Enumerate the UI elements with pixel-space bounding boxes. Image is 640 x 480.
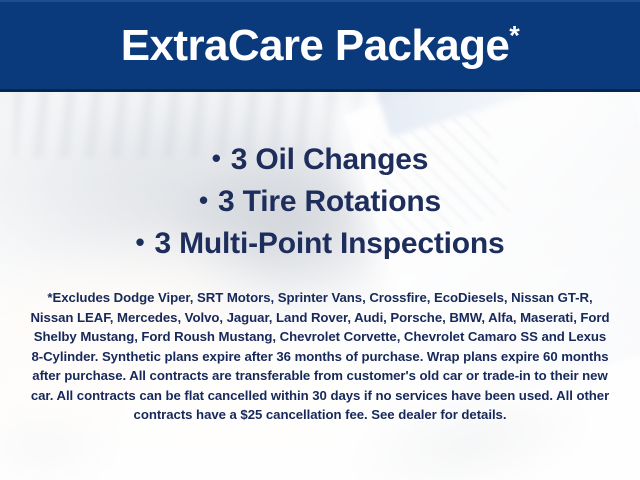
title-asterisk: *	[509, 20, 519, 50]
benefit-label: 3 Multi-Point Inspections	[155, 227, 505, 260]
list-item: • 3 Oil Changes	[0, 138, 640, 180]
list-item: • 3 Tire Rotations	[0, 180, 640, 222]
disclaimer-text: *Excludes Dodge Viper, SRT Motors, Sprin…	[28, 288, 612, 425]
benefits-list: • 3 Oil Changes • 3 Tire Rotations • 3 M…	[0, 138, 640, 264]
benefit-label: 3 Tire Rotations	[218, 185, 441, 218]
page-title: ExtraCare Package*	[121, 24, 519, 68]
list-item: • 3 Multi-Point Inspections	[0, 222, 640, 264]
bullet-icon: •	[212, 143, 223, 173]
header-banner: ExtraCare Package*	[0, 0, 640, 92]
bullet-icon: •	[199, 185, 210, 215]
page-title-text: ExtraCare Package	[121, 21, 510, 70]
bullet-icon: •	[135, 227, 146, 257]
extracare-package-promo: ExtraCare Package* • 3 Oil Changes • 3 T…	[0, 0, 640, 480]
benefit-label: 3 Oil Changes	[231, 143, 428, 176]
